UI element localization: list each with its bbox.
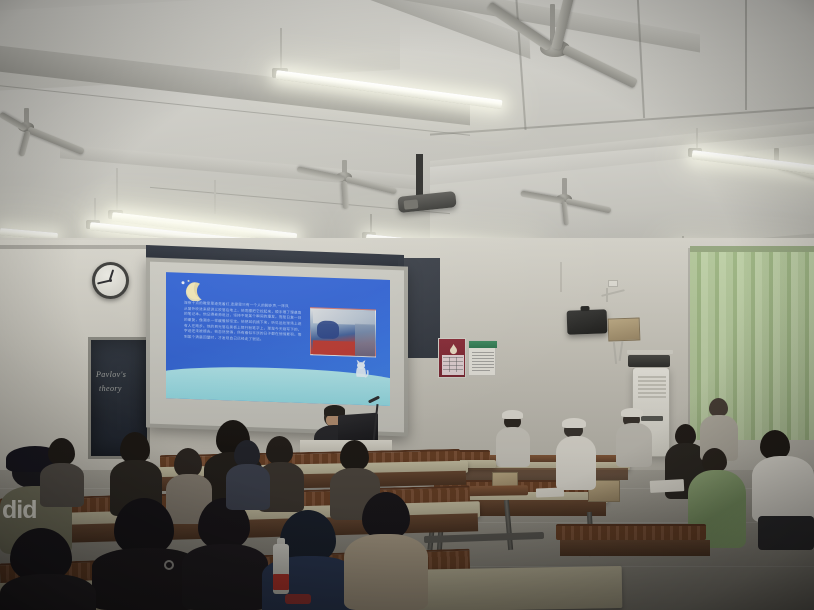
student xyxy=(616,408,652,466)
student xyxy=(556,420,596,490)
classroom-photo: Pavlov's theory 深夜十点的教室里还亮 xyxy=(0,0,814,610)
crescent-moon-icon xyxy=(176,278,210,301)
open-notebook[interactable] xyxy=(536,488,564,498)
projector xyxy=(398,154,468,226)
white-cap xyxy=(621,408,643,417)
ceiling-fan xyxy=(8,108,98,168)
student xyxy=(0,528,96,610)
white-cap xyxy=(562,418,586,428)
cardboard-box xyxy=(608,317,641,341)
white-cap xyxy=(502,410,523,419)
student xyxy=(40,438,84,502)
information-notice-poster xyxy=(468,340,496,376)
poster-header xyxy=(469,341,497,348)
student xyxy=(226,440,270,504)
slide-body-text: 深夜十点的教室里还亮着灯,走廊里只有一个人的脚步声,一阵风 从窗外吹进来把讲义吹… xyxy=(184,301,302,345)
wall-socket[interactable] xyxy=(608,280,618,287)
wall-clock xyxy=(92,262,129,299)
fluorescent-tube-light[interactable] xyxy=(600,128,814,198)
student xyxy=(344,492,428,610)
presentation-slide: 深夜十点的教室里还亮着灯,走廊里只有一个人的脚步声,一阵风 从窗外吹进来把讲义吹… xyxy=(166,272,390,406)
ceiling-fan xyxy=(490,4,650,104)
student xyxy=(182,498,268,610)
jacket-logo xyxy=(164,560,174,570)
bottle-label xyxy=(273,574,289,590)
wall-wire xyxy=(606,288,608,302)
red-object xyxy=(285,594,311,604)
curtain-rail xyxy=(690,246,814,252)
open-notebook[interactable] xyxy=(650,479,685,493)
student-shorts xyxy=(758,516,814,550)
water-bottle[interactable] xyxy=(272,538,290,594)
chalk-text-line-1: Pavlov's xyxy=(96,370,150,381)
chalk-text-line-2: theory xyxy=(99,384,151,395)
sitting-cat-icon xyxy=(352,357,370,382)
fire-safety-poster xyxy=(438,338,466,378)
ac-top-unit xyxy=(628,355,670,367)
student xyxy=(752,430,814,550)
bench-backrest xyxy=(556,524,706,540)
shirt-logo-text: did xyxy=(2,496,37,525)
student xyxy=(496,412,530,464)
fluorescent-tube-light[interactable] xyxy=(232,28,492,108)
wall-speaker xyxy=(567,309,608,334)
flame-icon xyxy=(449,342,458,353)
slide-embedded-photo xyxy=(310,307,376,357)
